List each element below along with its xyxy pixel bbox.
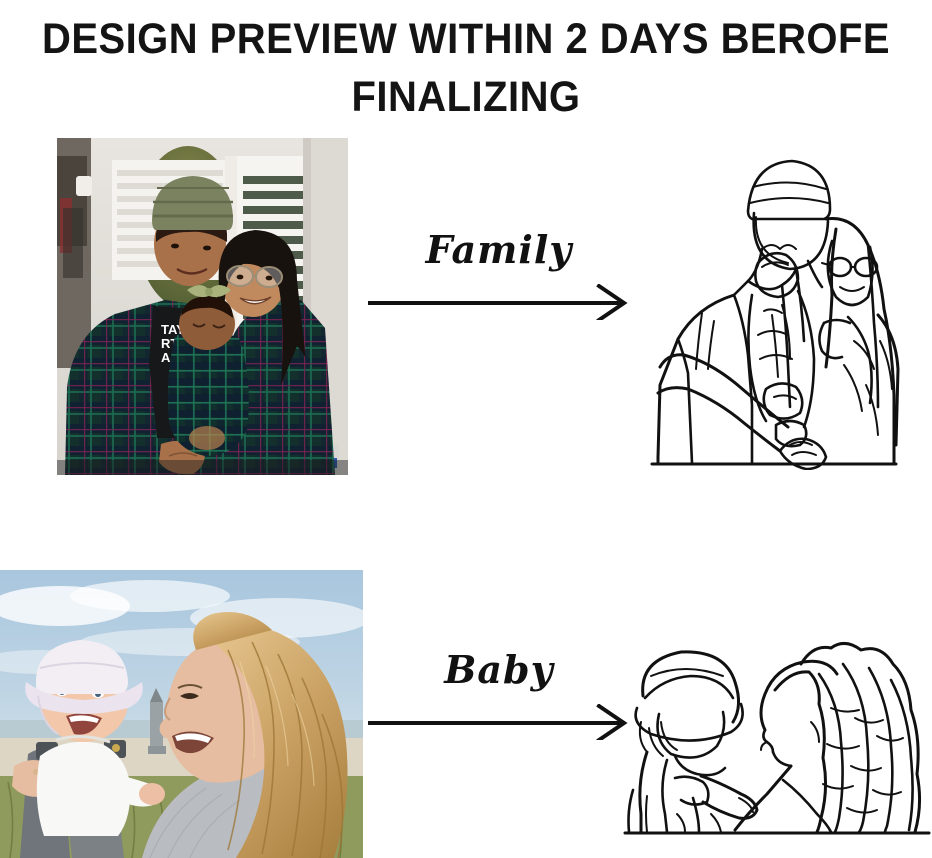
baby-line-drawing [615,618,932,846]
page-title: DESIGN PREVIEW WITHIN 2 DAYS BEROFE FINA… [33,10,900,126]
baby-arrow-group: Baby [368,648,630,740]
family-line-drawing [640,145,908,470]
family-line-drawing-svg [640,145,908,470]
baby-arrow-label: Baby [368,648,630,692]
family-arrow-label: Family [368,228,630,272]
svg-text:A: A [161,350,171,365]
baby-arrow-icon [368,704,630,740]
page-title-line-2: FINALIZING [33,68,900,126]
family-photo: TAY RT A [57,138,348,475]
page-title-line-1: DESIGN PREVIEW WITHIN 2 DAYS BEROFE [33,10,900,68]
baby-line-drawing-svg [615,618,932,846]
baby-photo [0,570,363,858]
baby-photo-image [0,570,363,858]
family-photo-image: TAY RT A [57,138,348,475]
family-arrow-icon [368,284,630,320]
family-arrow-group: Family [368,228,630,320]
